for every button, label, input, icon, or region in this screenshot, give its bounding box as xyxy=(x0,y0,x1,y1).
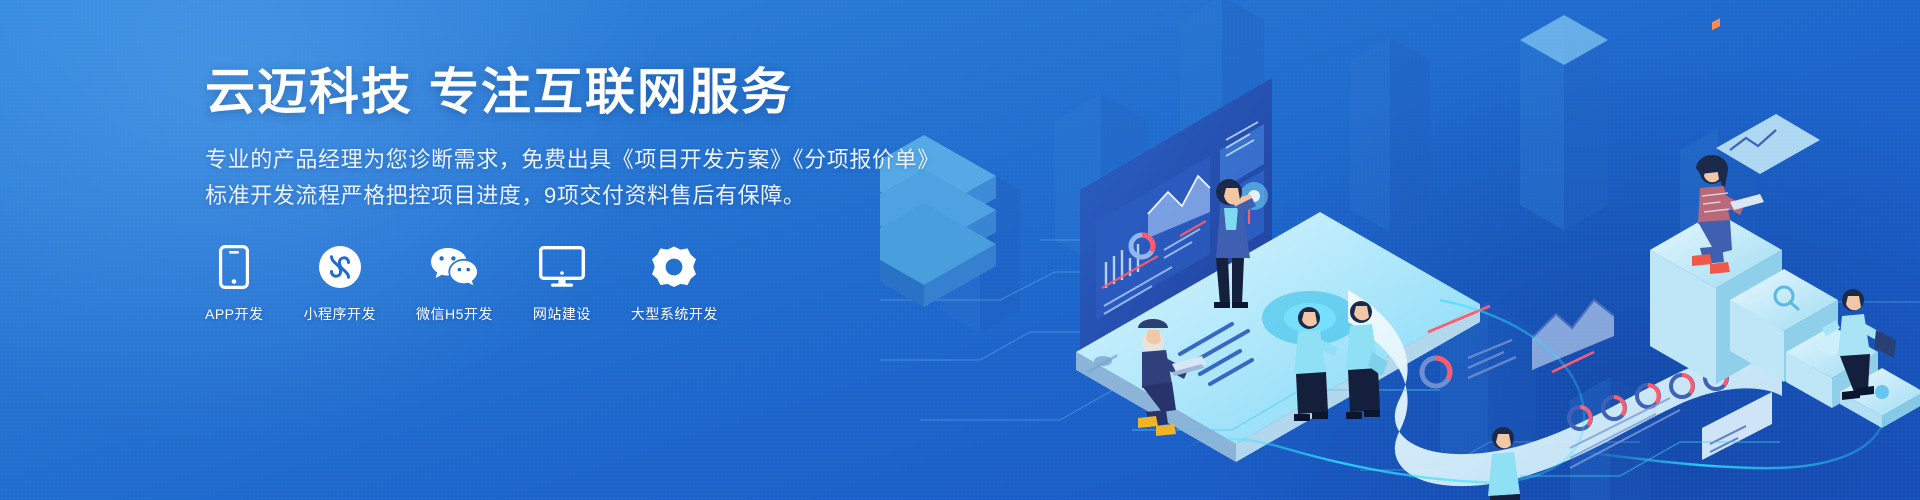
hero-subtitle: 专业的产品经理为您诊断需求，免费出具《项目开发方案》《分项报价单》 标准开发流程… xyxy=(205,142,905,214)
isometric-data-platform-illustration xyxy=(880,0,1920,500)
service-label: 网站建设 xyxy=(533,304,591,324)
wechat-icon xyxy=(429,244,479,290)
touch-glow xyxy=(1240,182,1268,210)
person-with-laptop xyxy=(1692,155,1764,274)
person-seated-laptop xyxy=(1138,319,1206,436)
service-label: APP开发 xyxy=(205,304,264,324)
hero-banner: 云迈科技 专注互联网服务 专业的产品经理为您诊断需求，免费出具《项目开发方案》《… xyxy=(0,0,1920,500)
service-label: 小程序开发 xyxy=(304,304,377,324)
circuit-lines xyxy=(880,212,1920,470)
service-label: 微信H5开发 xyxy=(416,304,493,324)
service-icon-list: APP开发 小程序开发 xyxy=(205,244,905,324)
cyan-flow-line xyxy=(1180,300,1884,482)
service-label: 大型系统开发 xyxy=(631,304,718,324)
ribbon-chart-card xyxy=(1702,18,1772,460)
monitor-icon xyxy=(539,244,585,290)
mobile-phone-icon xyxy=(219,244,249,290)
tower-top-face xyxy=(1520,15,1608,65)
service-item-miniprogram[interactable]: 小程序开发 xyxy=(304,244,377,324)
dashboard-screen xyxy=(1080,78,1272,356)
hero-copy: 云迈科技 专注互联网服务 专业的产品经理为您诊断需求，免费出具《项目开发方案》《… xyxy=(205,64,905,324)
person-presenting xyxy=(1214,179,1256,308)
person-walking-briefcase xyxy=(1822,289,1896,400)
bottom-right-shade xyxy=(1180,40,1920,500)
skyline-blocks xyxy=(940,0,1756,500)
subtitle-line-1: 专业的产品经理为您诊断需求，免费出具《项目开发方案》《分项报价单》 xyxy=(205,142,905,178)
service-item-website[interactable]: 网站建设 xyxy=(533,244,591,324)
gear-icon xyxy=(652,244,696,290)
two-people-talking xyxy=(1294,301,1388,421)
step-blocks xyxy=(1650,212,1920,428)
subtitle-line-2: 标准开发流程严格把控项目进度，9项交付资料售后有保障。 xyxy=(205,178,905,214)
page-title: 云迈科技 专注互联网服务 xyxy=(205,64,905,120)
mini-program-icon xyxy=(318,244,362,290)
service-item-app[interactable]: APP开发 xyxy=(205,244,264,324)
service-item-wechat[interactable]: 微信H5开发 xyxy=(416,244,493,324)
tablet-platform xyxy=(1076,212,1480,462)
chart-tooltip-bubble xyxy=(1716,114,1820,174)
person-standing-tablet xyxy=(1488,427,1520,500)
data-ribbon xyxy=(1348,18,1782,486)
service-item-system[interactable]: 大型系统开发 xyxy=(631,244,718,324)
